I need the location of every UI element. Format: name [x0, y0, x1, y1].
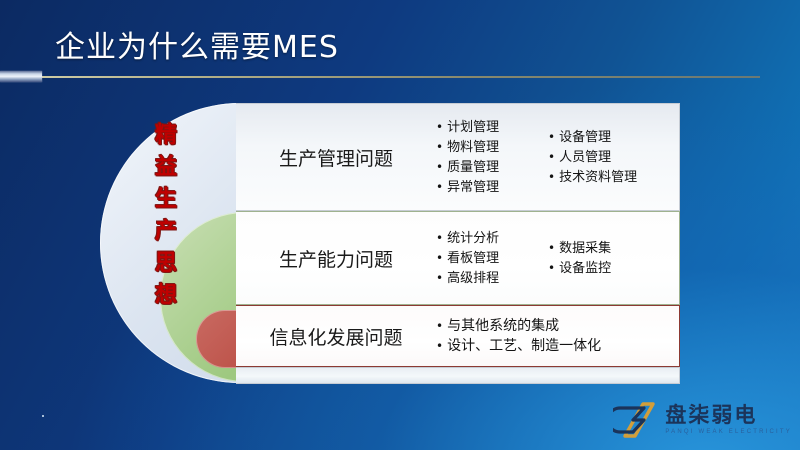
bullet-label: 与其他系统的集成 [447, 318, 559, 335]
bullet-item: •设备监控 [548, 260, 675, 277]
bullet-dot-icon: • [436, 230, 443, 247]
bullet-item: •与其他系统的集成 [436, 318, 675, 335]
brand-name-en: PANQI WEAK ELECTRICITY [665, 429, 792, 435]
panel-footer-strip [236, 367, 680, 384]
title-divider [40, 76, 760, 78]
problem-rows: 生产管理问题 •计划管理 •物料管理 •质量管理 •异常管理 •设备管理 •人员… [236, 103, 680, 383]
bullet-column-1: •统计分析 •看板管理 •高级排程 [436, 230, 542, 287]
lean-production-label: 精 益 生 产 思 想 [151, 120, 181, 312]
brand-text: 盘柒弱电 PANQI WEAK ELECTRICITY [665, 405, 792, 435]
bullet-label: 计划管理 [447, 119, 499, 136]
bullet-label: 异常管理 [447, 179, 499, 196]
brand-name-cn: 盘柒弱电 [665, 405, 792, 426]
row-title: 信息化发展问题 [236, 323, 436, 350]
slide-canvas: 企业为什么需要MES 精 益 生 产 思 想 生产管理问题 •计划管理 •物料管… [0, 0, 800, 450]
page-title: 企业为什么需要MES [55, 22, 339, 66]
bullet-item: •异常管理 [436, 179, 542, 196]
bullet-label: 设备监控 [559, 260, 611, 277]
problem-row-production-management: 生产管理问题 •计划管理 •物料管理 •质量管理 •异常管理 •设备管理 •人员… [236, 103, 680, 211]
row-title: 生产能力问题 [236, 245, 436, 272]
bullet-dot-icon: • [548, 240, 555, 257]
bullet-item: •高级排程 [436, 270, 542, 287]
bullet-item: •计划管理 [436, 119, 542, 136]
brand-mark-icon [613, 400, 657, 440]
bullet-dot-icon: • [436, 270, 443, 287]
background-speck [42, 415, 44, 417]
bullet-dot-icon: • [436, 139, 443, 156]
bullet-column-1: •与其他系统的集成 •设计、工艺、制造一体化 [436, 318, 675, 355]
bullet-dot-icon: • [548, 149, 555, 166]
bullet-label: 物料管理 [447, 139, 499, 156]
lean-char: 思 [151, 248, 181, 280]
bullet-item: •物料管理 [436, 139, 542, 156]
bullet-dot-icon: • [436, 250, 443, 267]
bullet-item: •数据采集 [548, 240, 675, 257]
bullet-label: 设计、工艺、制造一体化 [447, 338, 601, 355]
bullet-label: 高级排程 [447, 270, 499, 287]
bullet-item: •统计分析 [436, 230, 542, 247]
watermark-logo: 盘柒弱电 PANQI WEAK ELECTRICITY [613, 398, 792, 442]
problem-row-informatization: 信息化发展问题 •与其他系统的集成 •设计、工艺、制造一体化 [236, 305, 680, 367]
lean-char: 益 [151, 152, 181, 184]
bullet-item: •设备管理 [548, 129, 675, 146]
lean-char: 精 [151, 120, 181, 152]
bullet-label: 技术资料管理 [559, 169, 637, 186]
bullet-label: 设备管理 [559, 129, 611, 146]
lean-char: 产 [151, 216, 181, 248]
bullet-dot-icon: • [548, 129, 555, 146]
bullet-dot-icon: • [436, 159, 443, 176]
bullet-label: 质量管理 [447, 159, 499, 176]
bullet-item: •质量管理 [436, 159, 542, 176]
bullet-item: •人员管理 [548, 149, 675, 166]
problem-row-production-capacity: 生产能力问题 •统计分析 •看板管理 •高级排程 •数据采集 •设备监控 [236, 211, 680, 305]
bullet-column-2: •设备管理 •人员管理 •技术资料管理 [548, 119, 675, 196]
row-bullets: •计划管理 •物料管理 •质量管理 •异常管理 •设备管理 •人员管理 •技术资… [436, 119, 679, 196]
bullet-label: 统计分析 [447, 230, 499, 247]
title-bar: 企业为什么需要MES [0, 0, 800, 90]
bullet-dot-icon: • [548, 260, 555, 277]
title-divider-accent [0, 71, 42, 82]
lean-char: 想 [151, 280, 181, 312]
bullet-label: 人员管理 [559, 149, 611, 166]
bullet-item: •技术资料管理 [548, 169, 675, 186]
bullet-dot-icon: • [436, 119, 443, 136]
row-bullets: •统计分析 •看板管理 •高级排程 •数据采集 •设备监控 [436, 230, 679, 287]
bullet-label: 看板管理 [447, 250, 499, 267]
bullet-column-1: •计划管理 •物料管理 •质量管理 •异常管理 [436, 119, 542, 196]
lean-char: 生 [151, 184, 181, 216]
row-title: 生产管理问题 [236, 144, 436, 171]
row-bullets: •与其他系统的集成 •设计、工艺、制造一体化 [436, 318, 679, 355]
bullet-dot-icon: • [436, 318, 443, 335]
bullet-dot-icon: • [548, 169, 555, 186]
bullet-label: 数据采集 [559, 240, 611, 257]
bullet-item: •看板管理 [436, 250, 542, 267]
bullet-dot-icon: • [436, 179, 443, 196]
bullet-item: •设计、工艺、制造一体化 [436, 338, 675, 355]
bullet-dot-icon: • [436, 338, 443, 355]
bullet-column-2: •数据采集 •设备监控 [548, 230, 675, 287]
